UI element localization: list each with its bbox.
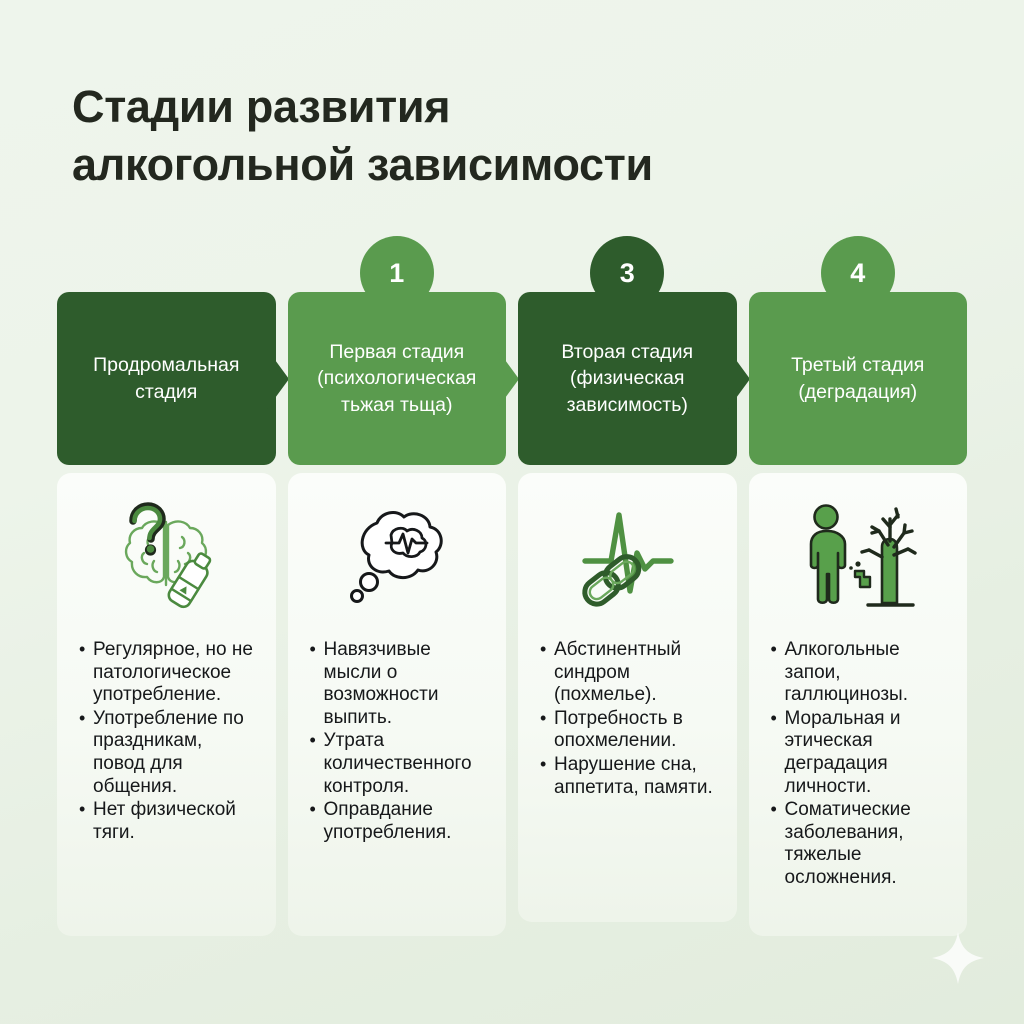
chain-heartbeat-icon [567, 495, 687, 613]
thought-bubble-pulse-icon [337, 495, 457, 613]
stage-card-2[interactable]: 1 Первая стадия (психологическая тьжая т… [288, 236, 507, 936]
list-item: Соматические заболевания, тяжелые осложн… [771, 799, 952, 889]
stage-header-label-3: Вторая стадия (физическая зависимость) [532, 339, 723, 417]
stage-card-4[interactable]: 4 Третый стадия (деградация) [749, 236, 968, 936]
stages-board: Продромальная стадия [57, 236, 967, 936]
stage-card-3[interactable]: 3 Вторая стадия (физическая зависимость) [518, 236, 737, 936]
person-dead-tree-icon [798, 495, 918, 613]
stage-card-1[interactable]: Продромальная стадия [57, 236, 276, 936]
list-item: Потребность в опохмелении. [540, 708, 721, 753]
arrow-connector-icon-1 [267, 349, 289, 409]
sparkle-icon [930, 930, 986, 986]
stage-bullets-2: Навязчивые мысли о возможности выпить. У… [294, 639, 501, 845]
brain-question-bottle-icon [106, 495, 226, 613]
list-item: Алкогольные запои, галлюцинозы. [771, 639, 952, 707]
page-title: Стадии развития алкогольной зависимости [72, 78, 872, 193]
list-item: Утрата количественного контроля. [310, 730, 491, 798]
list-item: Навязчивые мысли о возможности выпить. [310, 639, 491, 729]
stage-body-4: Алкогольные запои, галлюцинозы. Моральна… [749, 473, 968, 936]
stage-body-3: Абстинентный синдром (похмелье). Потребн… [518, 473, 737, 922]
list-item: Нет физической тяги. [79, 799, 260, 844]
stage-header-3: Вторая стадия (физическая зависимость) [518, 292, 737, 465]
stage-header-label-2: Первая стадия (психологическая тьжая тьщ… [302, 339, 493, 417]
stage-header-label-1: Продромальная стадия [71, 352, 262, 404]
stage-body-1: Регулярное, но не патологическое употреб… [57, 473, 276, 936]
stage-bullets-3: Абстинентный синдром (похмелье). Потребн… [524, 639, 731, 800]
stage-header-2: Первая стадия (психологическая тьжая тьщ… [288, 292, 507, 465]
list-item: Регулярное, но не патологическое употреб… [79, 639, 260, 707]
page-title-line-2: алкогольной зависимости [72, 136, 872, 194]
stage-bullets-1: Регулярное, но не патологическое употреб… [63, 639, 270, 845]
list-item: Нарушение сна, аппетита, памяти. [540, 754, 721, 799]
list-item: Оправдание употребления. [310, 799, 491, 844]
stage-header-1: Продромальная стадия [57, 292, 276, 465]
stage-body-2: Навязчивые мысли о возможности выпить. У… [288, 473, 507, 936]
arrow-connector-icon-2 [497, 349, 519, 409]
list-item: Абстинентный синдром (похмелье). [540, 639, 721, 707]
stage-header-label-4: Третый стадия (деградация) [763, 352, 954, 404]
list-item: Моральная и этическая деградация личност… [771, 708, 952, 798]
arrow-connector-icon-3 [728, 349, 750, 409]
stage-header-4: Третый стадия (деградация) [749, 292, 968, 465]
stage-bullets-4: Алкогольные запои, галлюцинозы. Моральна… [755, 639, 962, 891]
page-title-line-1: Стадии развития [72, 78, 872, 136]
list-item: Употребление по праздникам, повод для об… [79, 708, 260, 798]
